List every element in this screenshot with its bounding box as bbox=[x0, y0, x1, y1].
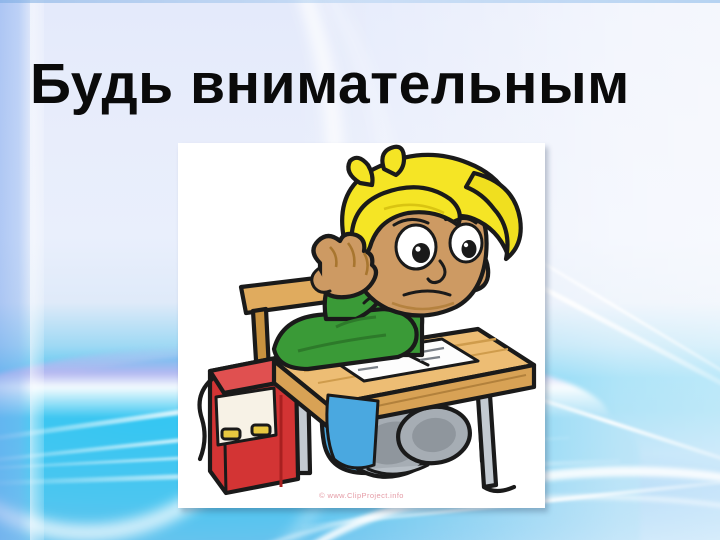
jeans-under-desk bbox=[327, 395, 378, 468]
slide-canvas: Будь внимательным .ol { stroke:#1a1a1a; … bbox=[0, 0, 720, 540]
clipart-watermark: © www.ClipProject.info bbox=[178, 491, 545, 500]
background-bottom-edge bbox=[0, 0, 720, 3]
picture-card: .ol { stroke:#1a1a1a; stroke-width:4.2; … bbox=[178, 143, 545, 508]
slide-title: Будь внимательным bbox=[30, 52, 720, 116]
cartoon-boy-at-desk-illustration: .ol { stroke:#1a1a1a; stroke-width:4.2; … bbox=[178, 143, 545, 508]
